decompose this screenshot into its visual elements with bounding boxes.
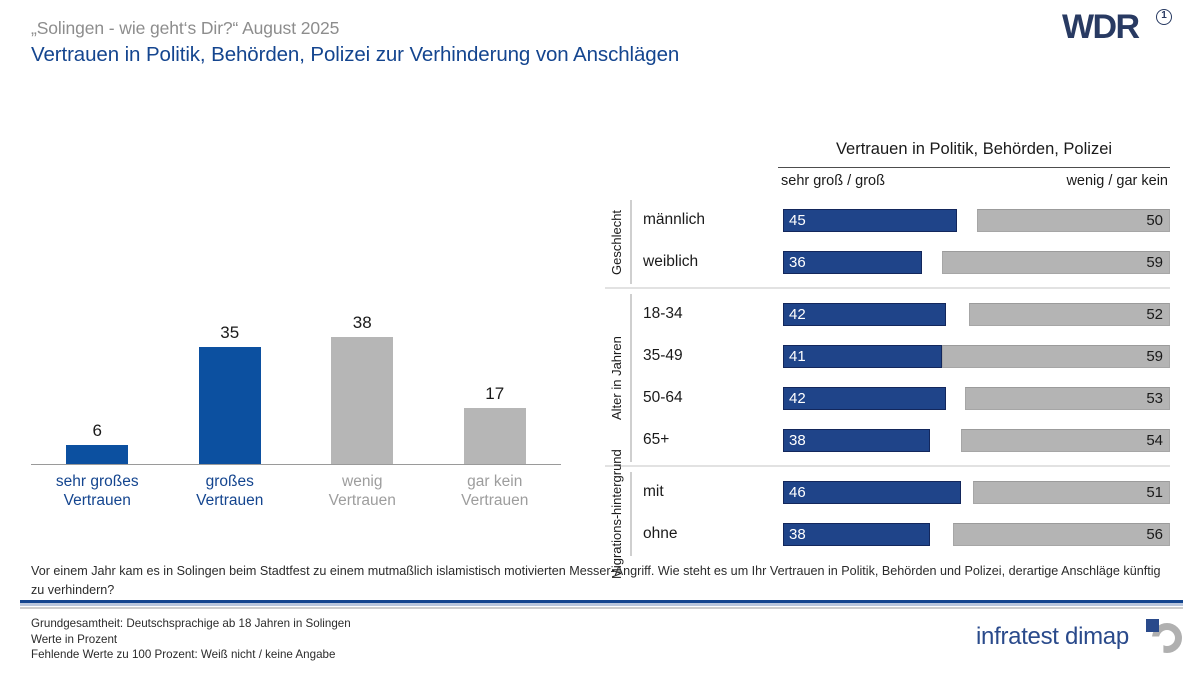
column-category-line: wenig — [296, 472, 428, 491]
table-row: mit4651 — [605, 472, 1170, 514]
column-chart: 6sehr großesVertrauen35großesVertrauen38… — [31, 280, 561, 530]
positive-bar: 38 — [783, 523, 930, 546]
row-bar-group: 3856 — [783, 523, 1170, 546]
infratest-dimap-logo: infratest dimap — [976, 617, 1183, 657]
table-row: ohne3856 — [605, 514, 1170, 556]
column-category-label: großesVertrauen — [164, 472, 296, 510]
positive-value-label: 45 — [789, 212, 806, 229]
source-notes: Grundgesamtheit: Deutschsprachige ab 18 … — [31, 616, 631, 663]
column-value-label: 6 — [93, 421, 102, 441]
column-slot: 38wenigVertrauen — [296, 280, 429, 465]
positive-bar: 46 — [783, 481, 961, 504]
column-bar — [464, 408, 526, 465]
negative-value-label: 59 — [1146, 254, 1163, 271]
column-category-label: gar keinVertrauen — [429, 472, 561, 510]
negative-bar: 59 — [942, 251, 1170, 274]
positive-value-label: 42 — [789, 390, 806, 407]
positive-value-label: 42 — [789, 306, 806, 323]
infographic-page: „Solingen - wie geht‘s Dir?“ August 2025… — [0, 0, 1200, 675]
table-row: 50-644253 — [605, 378, 1170, 420]
positive-bar: 36 — [783, 251, 922, 274]
infratest-dimap-mark-icon — [1146, 619, 1183, 655]
question-text: Vor einem Jahr kam es in Solingen beim S… — [31, 562, 1161, 600]
column-value-label: 35 — [220, 323, 239, 343]
wdr-wordmark: WDR — [1062, 8, 1138, 47]
row-bar-group: 4651 — [783, 481, 1170, 504]
row-bar-group: 3854 — [783, 429, 1170, 452]
negative-value-label: 51 — [1146, 484, 1163, 501]
negative-bar: 54 — [961, 429, 1170, 452]
crosstab-title-rule — [778, 167, 1170, 168]
column-chart-baseline — [31, 464, 561, 465]
column-slot: 6sehr großesVertrauen — [31, 280, 164, 465]
column-category-line: Vertrauen — [31, 491, 163, 510]
row-label: 35-49 — [643, 347, 683, 365]
row-label: weiblich — [643, 253, 698, 271]
header: „Solingen - wie geht‘s Dir?“ August 2025… — [0, 0, 1200, 100]
negative-value-label: 52 — [1146, 306, 1163, 323]
negative-value-label: 54 — [1146, 432, 1163, 449]
column-category-label: sehr großesVertrauen — [31, 472, 163, 510]
logo-square-shape — [1146, 619, 1159, 632]
column-category-line: sehr großes — [31, 472, 163, 491]
negative-value-label: 50 — [1146, 212, 1163, 229]
negative-bar: 56 — [953, 523, 1170, 546]
table-row: 18-344252 — [605, 294, 1170, 336]
crosstab-chart: Vertrauen in Politik, Behörden, Polizei … — [605, 140, 1170, 532]
group-separator — [605, 465, 1170, 467]
column-category-line: Vertrauen — [296, 491, 428, 510]
footer-rule-pale — [20, 603, 1183, 606]
column-value-label: 17 — [485, 384, 504, 404]
column-header-negative: wenig / gar kein — [778, 173, 1168, 189]
row-bar-group: 4159 — [783, 345, 1170, 368]
wdr-logo: WDR — [1062, 8, 1186, 46]
column-category-line: gar kein — [429, 472, 561, 491]
negative-bar: 51 — [973, 481, 1170, 504]
column-slot: 35großesVertrauen — [164, 280, 297, 465]
source-line-units: Werte in Prozent — [31, 632, 631, 648]
source-line-missing: Fehlende Werte zu 100 Prozent: Weiß nich… — [31, 647, 631, 663]
column-chart-plot: 6sehr großesVertrauen35großesVertrauen38… — [31, 280, 561, 465]
row-bar-group: 4550 — [783, 209, 1170, 232]
crosstab-body: Geschlechtmännlich4550weiblich3659Alter … — [605, 200, 1170, 532]
negative-value-label: 59 — [1146, 348, 1163, 365]
column-category-line: Vertrauen — [429, 491, 561, 510]
table-row: weiblich3659 — [605, 242, 1170, 284]
positive-bar: 45 — [783, 209, 957, 232]
negative-value-label: 56 — [1146, 526, 1163, 543]
column-category-line: großes — [164, 472, 296, 491]
positive-value-label: 38 — [789, 526, 806, 543]
crosstab-title: Vertrauen in Politik, Behörden, Polizei — [778, 140, 1170, 159]
row-bar-group: 4252 — [783, 303, 1170, 326]
positive-bar: 38 — [783, 429, 930, 452]
column-value-label: 38 — [353, 313, 372, 333]
column-category-label: wenigVertrauen — [296, 472, 428, 510]
row-label: mit — [643, 483, 664, 501]
negative-bar: 52 — [969, 303, 1170, 326]
positive-bar: 42 — [783, 387, 946, 410]
page-title: Vertrauen in Politik, Behörden, Polizei … — [31, 43, 679, 67]
row-label: ohne — [643, 525, 677, 543]
positive-bar: 41 — [783, 345, 942, 368]
negative-bar: 53 — [965, 387, 1170, 410]
positive-bar: 42 — [783, 303, 946, 326]
infratest-dimap-wordmark: infratest dimap — [976, 623, 1129, 651]
group-separator — [605, 287, 1170, 289]
row-label: männlich — [643, 211, 705, 229]
row-bar-group: 4253 — [783, 387, 1170, 410]
positive-value-label: 38 — [789, 432, 806, 449]
source-line-population: Grundgesamtheit: Deutschsprachige ab 18 … — [31, 616, 631, 632]
row-label: 50-64 — [643, 389, 683, 407]
column-category-line: Vertrauen — [164, 491, 296, 510]
row-label: 18-34 — [643, 305, 683, 323]
column-slot: 17gar keinVertrauen — [429, 280, 562, 465]
table-row: 65+3854 — [605, 420, 1170, 462]
ard-one-icon — [1156, 9, 1172, 25]
negative-value-label: 53 — [1146, 390, 1163, 407]
negative-bar: 59 — [942, 345, 1170, 368]
table-row: männlich4550 — [605, 200, 1170, 242]
row-label: 65+ — [643, 431, 669, 449]
positive-value-label: 46 — [789, 484, 806, 501]
footer-rule-gray — [20, 607, 1183, 609]
column-bar — [331, 337, 393, 465]
table-row: 35-494159 — [605, 336, 1170, 378]
negative-bar: 50 — [977, 209, 1171, 232]
kicker-text: „Solingen - wie geht‘s Dir?“ August 2025 — [31, 18, 339, 39]
column-bar — [199, 347, 261, 465]
row-bar-group: 3659 — [783, 251, 1170, 274]
positive-value-label: 41 — [789, 348, 806, 365]
column-bar — [66, 445, 128, 465]
positive-value-label: 36 — [789, 254, 806, 271]
